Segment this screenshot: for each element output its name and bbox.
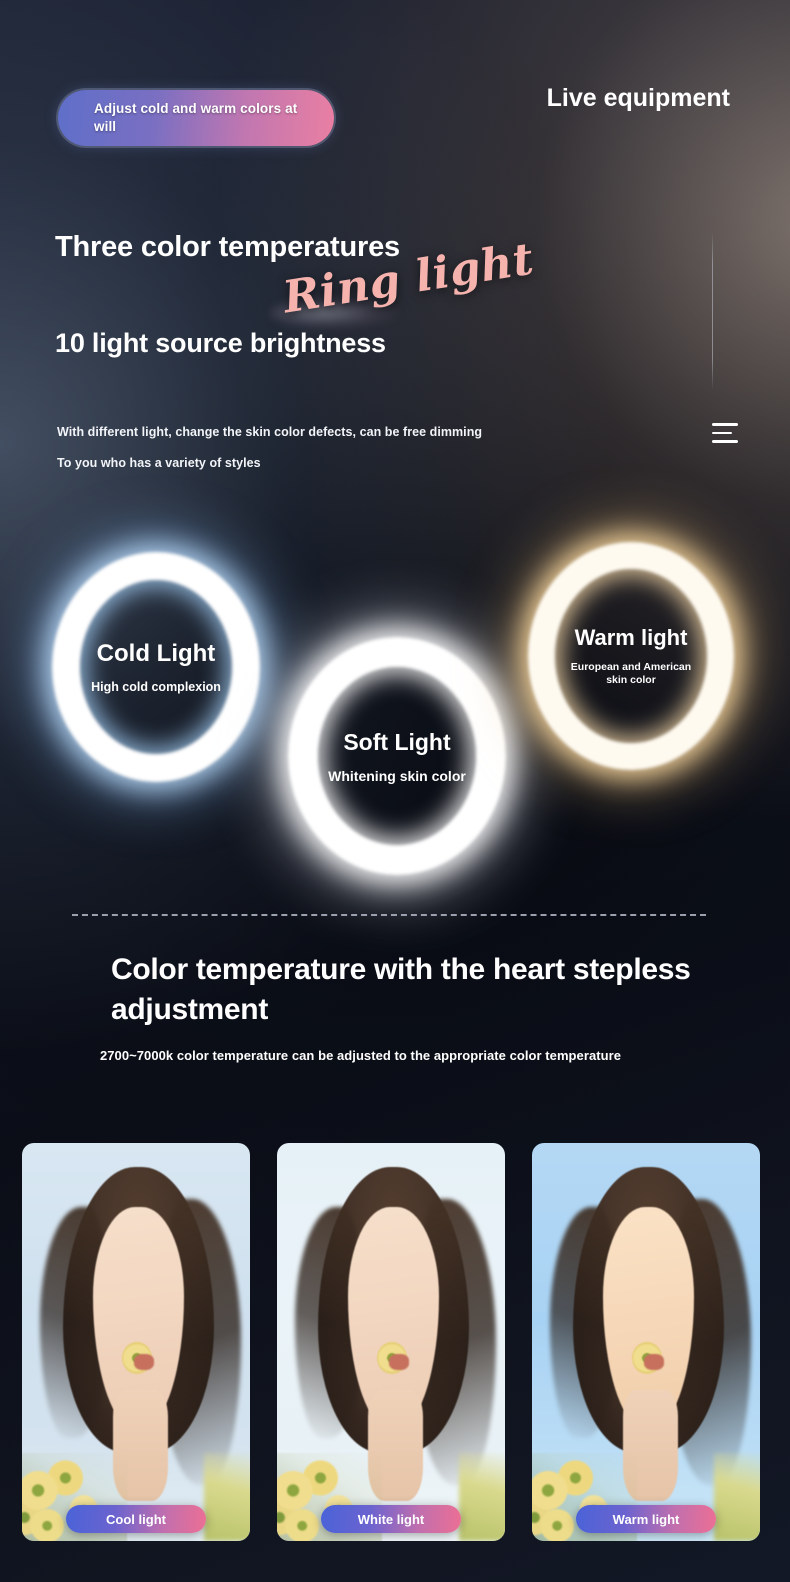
ring-soft-title: Soft Light <box>343 729 450 756</box>
hamburger-bar-2 <box>712 432 732 435</box>
hero-description-line-1: With different light, change the skin co… <box>57 425 482 439</box>
hamburger-bar-1 <box>712 423 738 426</box>
vertical-hairline-decoration <box>712 232 713 390</box>
adjust-colors-badge[interactable]: Adjust cold and warm colors at will <box>58 90 334 146</box>
photo-comparison-row: Cool light White light <box>0 1143 790 1543</box>
grass-blur <box>204 1453 250 1541</box>
ring-light-soft[interactable]: Soft Light Whitening skin color <box>288 637 506 875</box>
hamburger-menu-icon[interactable] <box>712 423 738 443</box>
photo-card-warm[interactable]: Warm light <box>532 1143 760 1541</box>
ring-light-showcase: Cold Light High cold complexion Soft Lig… <box>0 520 790 910</box>
photo-card-white[interactable]: White light <box>277 1143 505 1541</box>
model-lips <box>644 1354 665 1370</box>
photo-warm-image <box>532 1143 760 1541</box>
flower-eye-mask <box>585 1250 717 1318</box>
live-equipment-title: Live equipment <box>490 82 730 115</box>
hero-description-line-2: To you who has a variety of styles <box>57 456 261 470</box>
ring-warm-subtitle: European and American skin color <box>561 661 701 687</box>
ring-glow-warm-icon <box>528 542 734 770</box>
photo-card-label-warm: Warm light <box>576 1505 716 1533</box>
product-promo-page: Adjust cold and warm colors at will Live… <box>0 0 790 1582</box>
hamburger-bar-3 <box>712 440 738 443</box>
grass-blur <box>459 1453 505 1541</box>
ring-soft-subtitle: Whitening skin color <box>328 768 466 784</box>
ring-warm-title: Warm light <box>575 625 688 651</box>
flower-eye-mask <box>330 1250 462 1318</box>
flower-eye-mask <box>75 1250 207 1318</box>
model-lips <box>389 1354 410 1370</box>
dashed-divider <box>72 914 706 916</box>
ring-light-cold[interactable]: Cold Light High cold complexion <box>52 552 260 782</box>
photo-card-label-cool: Cool light <box>66 1505 206 1533</box>
ring-light-warm[interactable]: Warm light European and American skin co… <box>528 542 734 770</box>
adjust-colors-badge-label: Adjust cold and warm colors at will <box>58 100 334 136</box>
ring-cold-title: Cold Light <box>97 640 216 668</box>
grass-blur <box>714 1453 760 1541</box>
section-note: 2700~7000k color temperature can be adju… <box>100 1048 621 1063</box>
section-title: Color temperature with the heart steples… <box>111 950 711 1029</box>
photo-white-image <box>277 1143 505 1541</box>
photo-cool-image <box>22 1143 250 1541</box>
ring-cold-subtitle: High cold complexion <box>91 680 221 694</box>
model-lips <box>134 1354 155 1370</box>
photo-card-cool[interactable]: Cool light <box>22 1143 250 1541</box>
ring-glow-soft-icon <box>288 637 506 875</box>
photo-card-label-white: White light <box>321 1505 461 1533</box>
hero-subheadline: 10 light source brightness <box>55 328 386 359</box>
